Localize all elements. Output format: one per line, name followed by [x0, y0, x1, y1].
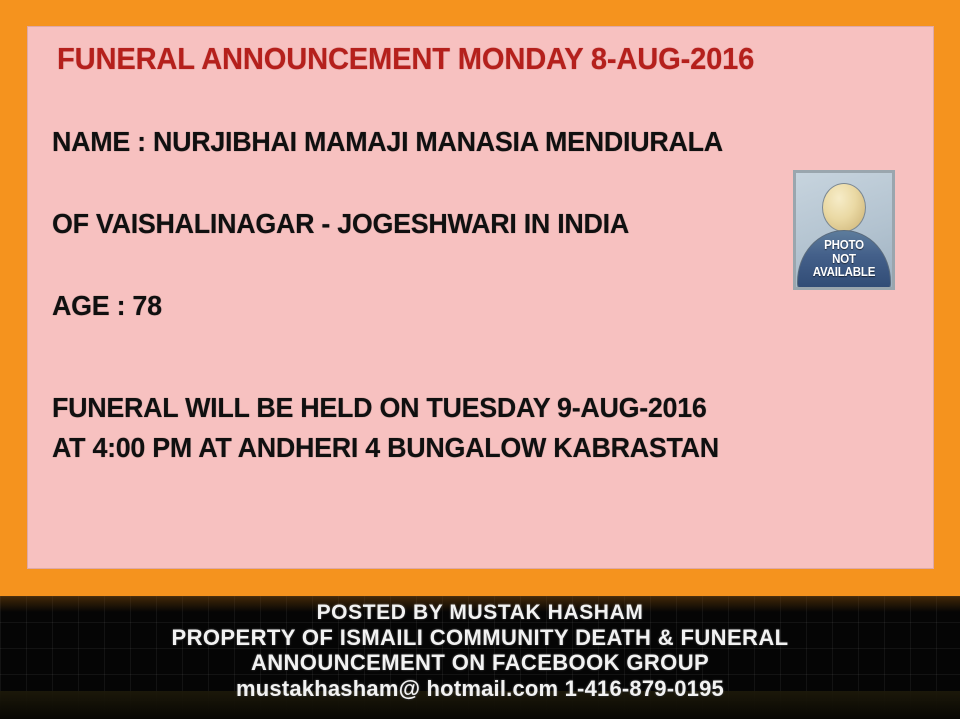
footer-credits: POSTED BY MUSTAK HASHAM PROPERTY OF ISMA…	[0, 600, 960, 702]
funeral-datetime-line: FUNERAL WILL BE HELD ON TUESDAY 9-AUG-20…	[52, 392, 782, 424]
footer-contact-line: mustakhasham@ hotmail.com 1-416-879-0195	[0, 675, 960, 702]
photo-caption-line-3: AVAILABLE	[800, 266, 888, 280]
funeral-location-line: AT 4:00 PM AT ANDHERI 4 BUNGALOW KABRAST…	[52, 432, 782, 464]
photo-caption-line-1: PHOTO	[800, 239, 888, 253]
panel-content: FUNERAL ANNOUNCEMENT MONDAY 8-AUG-2016 N…	[27, 26, 934, 569]
footer-bar: POSTED BY MUSTAK HASHAM PROPERTY OF ISMA…	[0, 596, 960, 719]
photo-not-available-placeholder: PHOTO NOT AVAILABLE	[793, 170, 895, 290]
footer-property-line: PROPERTY OF ISMAILI COMMUNITY DEATH & FU…	[0, 625, 960, 650]
person-silhouette-icon: PHOTO NOT AVAILABLE	[796, 173, 892, 287]
announcement-title: FUNERAL ANNOUNCEMENT MONDAY 8-AUG-2016	[57, 41, 754, 77]
funeral-announcement-poster: FUNERAL ANNOUNCEMENT MONDAY 8-AUG-2016 N…	[0, 0, 960, 719]
deceased-name-line: NAME : NURJIBHAI MAMAJI MANASIA MENDIURA…	[52, 126, 782, 158]
footer-group-line: ANNOUNCEMENT ON FACEBOOK GROUP	[0, 650, 960, 675]
footer-posted-by-line: POSTED BY MUSTAK HASHAM	[0, 600, 960, 625]
deceased-age-line: AGE : 78	[52, 290, 782, 322]
silhouette-head-icon	[822, 183, 866, 232]
photo-placeholder-caption: PHOTO NOT AVAILABLE	[800, 239, 888, 280]
announcement-panel: FUNERAL ANNOUNCEMENT MONDAY 8-AUG-2016 N…	[27, 26, 934, 569]
announcement-body: NAME : NURJIBHAI MAMAJI MANASIA MENDIURA…	[52, 106, 812, 464]
deceased-place-line: OF VAISHALINAGAR - JOGESHWARI IN INDIA	[52, 208, 782, 240]
photo-caption-line-2: NOT	[800, 253, 888, 267]
